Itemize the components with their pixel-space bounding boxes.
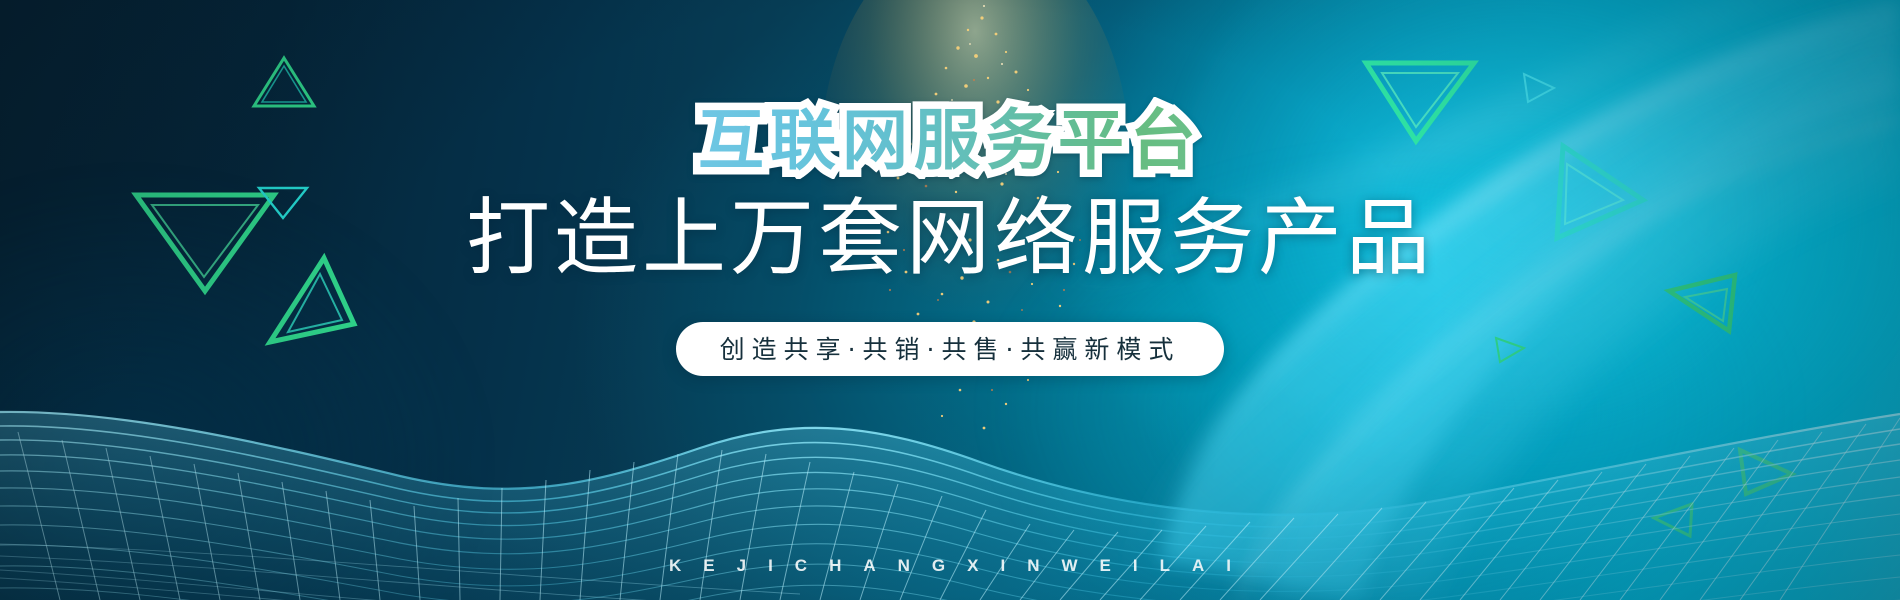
hero-banner: 互联网服务平台 互联网服务平台 打造上万套网络服务产品 创造共享·共销·共售·共… [0,0,1900,600]
vignette-overlay [0,0,1900,600]
